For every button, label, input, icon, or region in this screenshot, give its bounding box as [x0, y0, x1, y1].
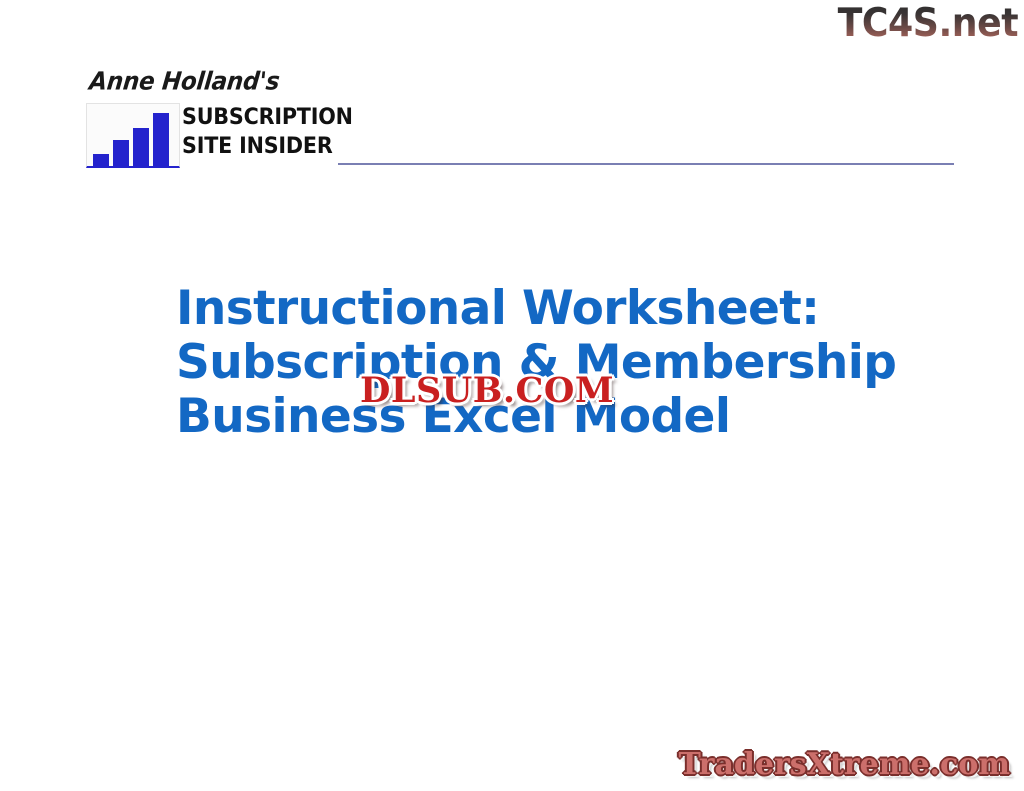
header-divider-rule	[338, 163, 954, 165]
logo-wordmark-line-1: SUBSCRIPTION	[182, 103, 334, 132]
page-title-line-1: Instructional Worksheet:	[176, 282, 976, 336]
logo-bar-2	[113, 140, 129, 166]
logo-wordmark: SUBSCRIPTION SITE INSIDER	[182, 103, 344, 161]
logo-bar-3	[133, 128, 149, 166]
dlsub-watermark: DLSUB.COM	[360, 371, 614, 411]
logo-bar-4	[153, 113, 169, 166]
slide-canvas: TC4S.net Anne Holland's SUBSCRIPTION SIT…	[0, 0, 1024, 791]
logo-bar-group	[91, 108, 177, 166]
logo-bar-1	[93, 154, 109, 166]
page-title: Instructional Worksheet: Subscription & …	[176, 282, 976, 444]
tc4s-net-logo: TC4S.net	[837, 2, 1018, 46]
logo-wordmark-line-2: SITE INSIDER	[182, 132, 334, 161]
anne-holland-signature: Anne Holland's	[88, 68, 281, 96]
logo-bar-chart	[86, 103, 180, 168]
tradersxtreme-watermark: TradersXtreme.com	[679, 747, 1010, 783]
subscription-site-insider-logo: Anne Holland's SUBSCRIPTION SITE INSIDER	[86, 70, 344, 168]
